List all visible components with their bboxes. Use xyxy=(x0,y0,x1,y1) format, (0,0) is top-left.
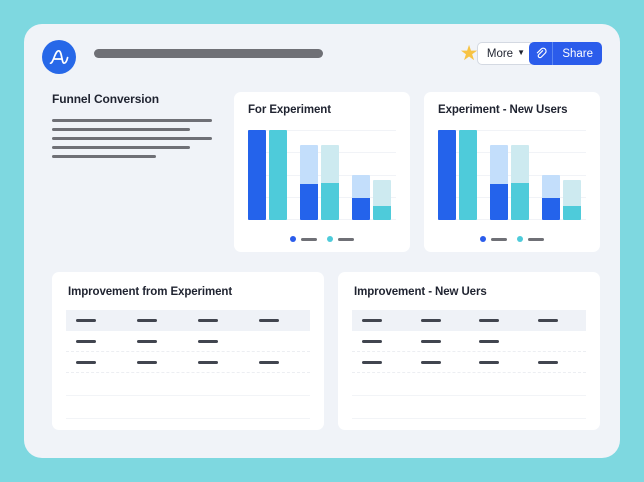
table-cell xyxy=(528,361,587,364)
bar-segment-light xyxy=(300,145,318,184)
table-row[interactable] xyxy=(352,352,586,373)
amplitude-logo-icon xyxy=(42,40,76,74)
bar-segment-dark xyxy=(248,130,266,220)
table-row-empty xyxy=(66,396,310,419)
bar-segment-dark xyxy=(438,130,456,220)
bar-group-step-3 xyxy=(542,130,581,220)
legend-item-control[interactable] xyxy=(480,236,507,242)
more-button[interactable]: More ▼ xyxy=(477,42,534,65)
table-cell xyxy=(249,361,310,364)
table-cell xyxy=(411,361,470,364)
bar-control[interactable] xyxy=(438,130,456,220)
bar-group-step-1 xyxy=(438,130,477,220)
table-cell xyxy=(127,340,188,343)
table-header-row xyxy=(66,310,310,331)
bar-group-step-2 xyxy=(300,130,339,220)
bar-segment-light xyxy=(373,180,391,206)
table-title: Improvement from Experiment xyxy=(68,286,324,298)
dashboard-topbar: ★ More ▼ Share xyxy=(24,24,620,80)
bar-segment-light xyxy=(321,145,339,183)
table-header-row xyxy=(352,310,586,331)
legend-label-placeholder xyxy=(301,238,317,241)
table-row-empty xyxy=(352,373,586,396)
bar-segment-dark xyxy=(459,130,477,220)
table-header-cell xyxy=(188,319,249,322)
legend-label-placeholder xyxy=(491,238,507,241)
bar-segment-light xyxy=(511,145,529,183)
table-card-improvement-from-experiment[interactable]: Improvement from Experiment xyxy=(52,272,324,430)
funnel-conversion-summary: Funnel Conversion xyxy=(52,92,232,164)
table-header-cell xyxy=(66,319,127,322)
bar-segment-dark xyxy=(352,198,370,220)
table-header-cell xyxy=(127,319,188,322)
table-header-cell xyxy=(469,319,528,322)
table-row[interactable] xyxy=(352,331,586,352)
table-cell xyxy=(188,340,249,343)
table-row[interactable] xyxy=(66,352,310,373)
table-cell xyxy=(352,340,411,343)
share-button-label: Share xyxy=(562,48,593,60)
chart-legend xyxy=(234,236,410,242)
series-variant-dot xyxy=(327,236,333,242)
data-table xyxy=(66,310,310,419)
bar-segment-dark xyxy=(563,206,581,220)
bar-segment-dark xyxy=(373,206,391,220)
table-row-empty xyxy=(352,396,586,419)
page-title: Funnel Conversion xyxy=(52,92,232,106)
table-cell xyxy=(469,361,528,364)
bar-variant[interactable] xyxy=(511,145,529,220)
table-cell xyxy=(66,340,127,343)
chart-card-for-experiment[interactable]: For Experiment xyxy=(234,92,410,252)
chart-card-experiment-new-users[interactable]: Experiment - New Users xyxy=(424,92,600,252)
chart-title: Experiment - New Users xyxy=(438,104,600,116)
series-variant-dot xyxy=(517,236,523,242)
legend-item-control[interactable] xyxy=(290,236,317,242)
table-cell xyxy=(188,361,249,364)
bar-segment-light xyxy=(352,175,370,198)
table-header-cell xyxy=(411,319,470,322)
table-card-improvement-new-users[interactable]: Improvement - New Uers xyxy=(338,272,600,430)
legend-item-variant[interactable] xyxy=(517,236,544,242)
bar-segment-dark xyxy=(542,198,560,220)
legend-label-placeholder xyxy=(528,238,544,241)
table-row-empty xyxy=(66,373,310,396)
share-button-group: Share xyxy=(529,42,602,65)
table-cell xyxy=(469,340,528,343)
table-cell xyxy=(66,361,127,364)
table-header-cell xyxy=(249,319,310,322)
bar-area xyxy=(438,130,586,220)
bar-segment-light xyxy=(490,145,508,184)
share-button[interactable]: Share xyxy=(553,42,602,65)
summary-line xyxy=(52,137,212,140)
bar-segment-dark xyxy=(490,184,508,220)
table-title: Improvement - New Uers xyxy=(354,286,600,298)
table-row[interactable] xyxy=(66,331,310,352)
bar-variant[interactable] xyxy=(459,130,477,220)
bar-chart-plot xyxy=(438,130,586,220)
bar-segment-light xyxy=(563,180,581,206)
bar-control[interactable] xyxy=(542,175,560,220)
table-header-cell xyxy=(528,319,587,322)
legend-item-variant[interactable] xyxy=(327,236,354,242)
table-cell xyxy=(127,361,188,364)
bar-segment-dark xyxy=(269,130,287,220)
bar-control[interactable] xyxy=(300,145,318,220)
link-icon[interactable] xyxy=(529,42,553,65)
bar-segment-dark xyxy=(300,184,318,220)
summary-line xyxy=(52,128,190,131)
chevron-down-icon: ▼ xyxy=(517,49,525,57)
bar-control[interactable] xyxy=(352,175,370,220)
dashboard-title-placeholder xyxy=(94,49,323,58)
bar-segment-dark xyxy=(321,183,339,221)
table-cell xyxy=(411,340,470,343)
bar-group-step-1 xyxy=(248,130,287,220)
bar-group-step-2 xyxy=(490,130,529,220)
table-cell xyxy=(352,361,411,364)
chart-legend xyxy=(424,236,600,242)
bar-group-step-3 xyxy=(352,130,391,220)
summary-placeholder-lines xyxy=(52,119,232,158)
bar-variant[interactable] xyxy=(373,180,391,220)
bar-segment-dark xyxy=(511,183,529,221)
bar-chart-plot xyxy=(248,130,396,220)
bar-area xyxy=(248,130,396,220)
dashboard-panel: ★ More ▼ Share Funnel Conversion xyxy=(24,24,620,458)
bar-variant[interactable] xyxy=(269,130,287,220)
bar-variant[interactable] xyxy=(563,180,581,220)
bar-control[interactable] xyxy=(248,130,266,220)
summary-line xyxy=(52,155,156,158)
bar-control[interactable] xyxy=(490,145,508,220)
chart-title: For Experiment xyxy=(248,104,410,116)
bar-segment-light xyxy=(542,175,560,198)
series-control-dot xyxy=(290,236,296,242)
table-header-cell xyxy=(352,319,411,322)
summary-line xyxy=(52,146,190,149)
series-control-dot xyxy=(480,236,486,242)
data-table xyxy=(352,310,586,419)
bar-variant[interactable] xyxy=(321,145,339,220)
legend-label-placeholder xyxy=(338,238,354,241)
more-button-label: More xyxy=(487,48,513,60)
summary-line xyxy=(52,119,212,122)
